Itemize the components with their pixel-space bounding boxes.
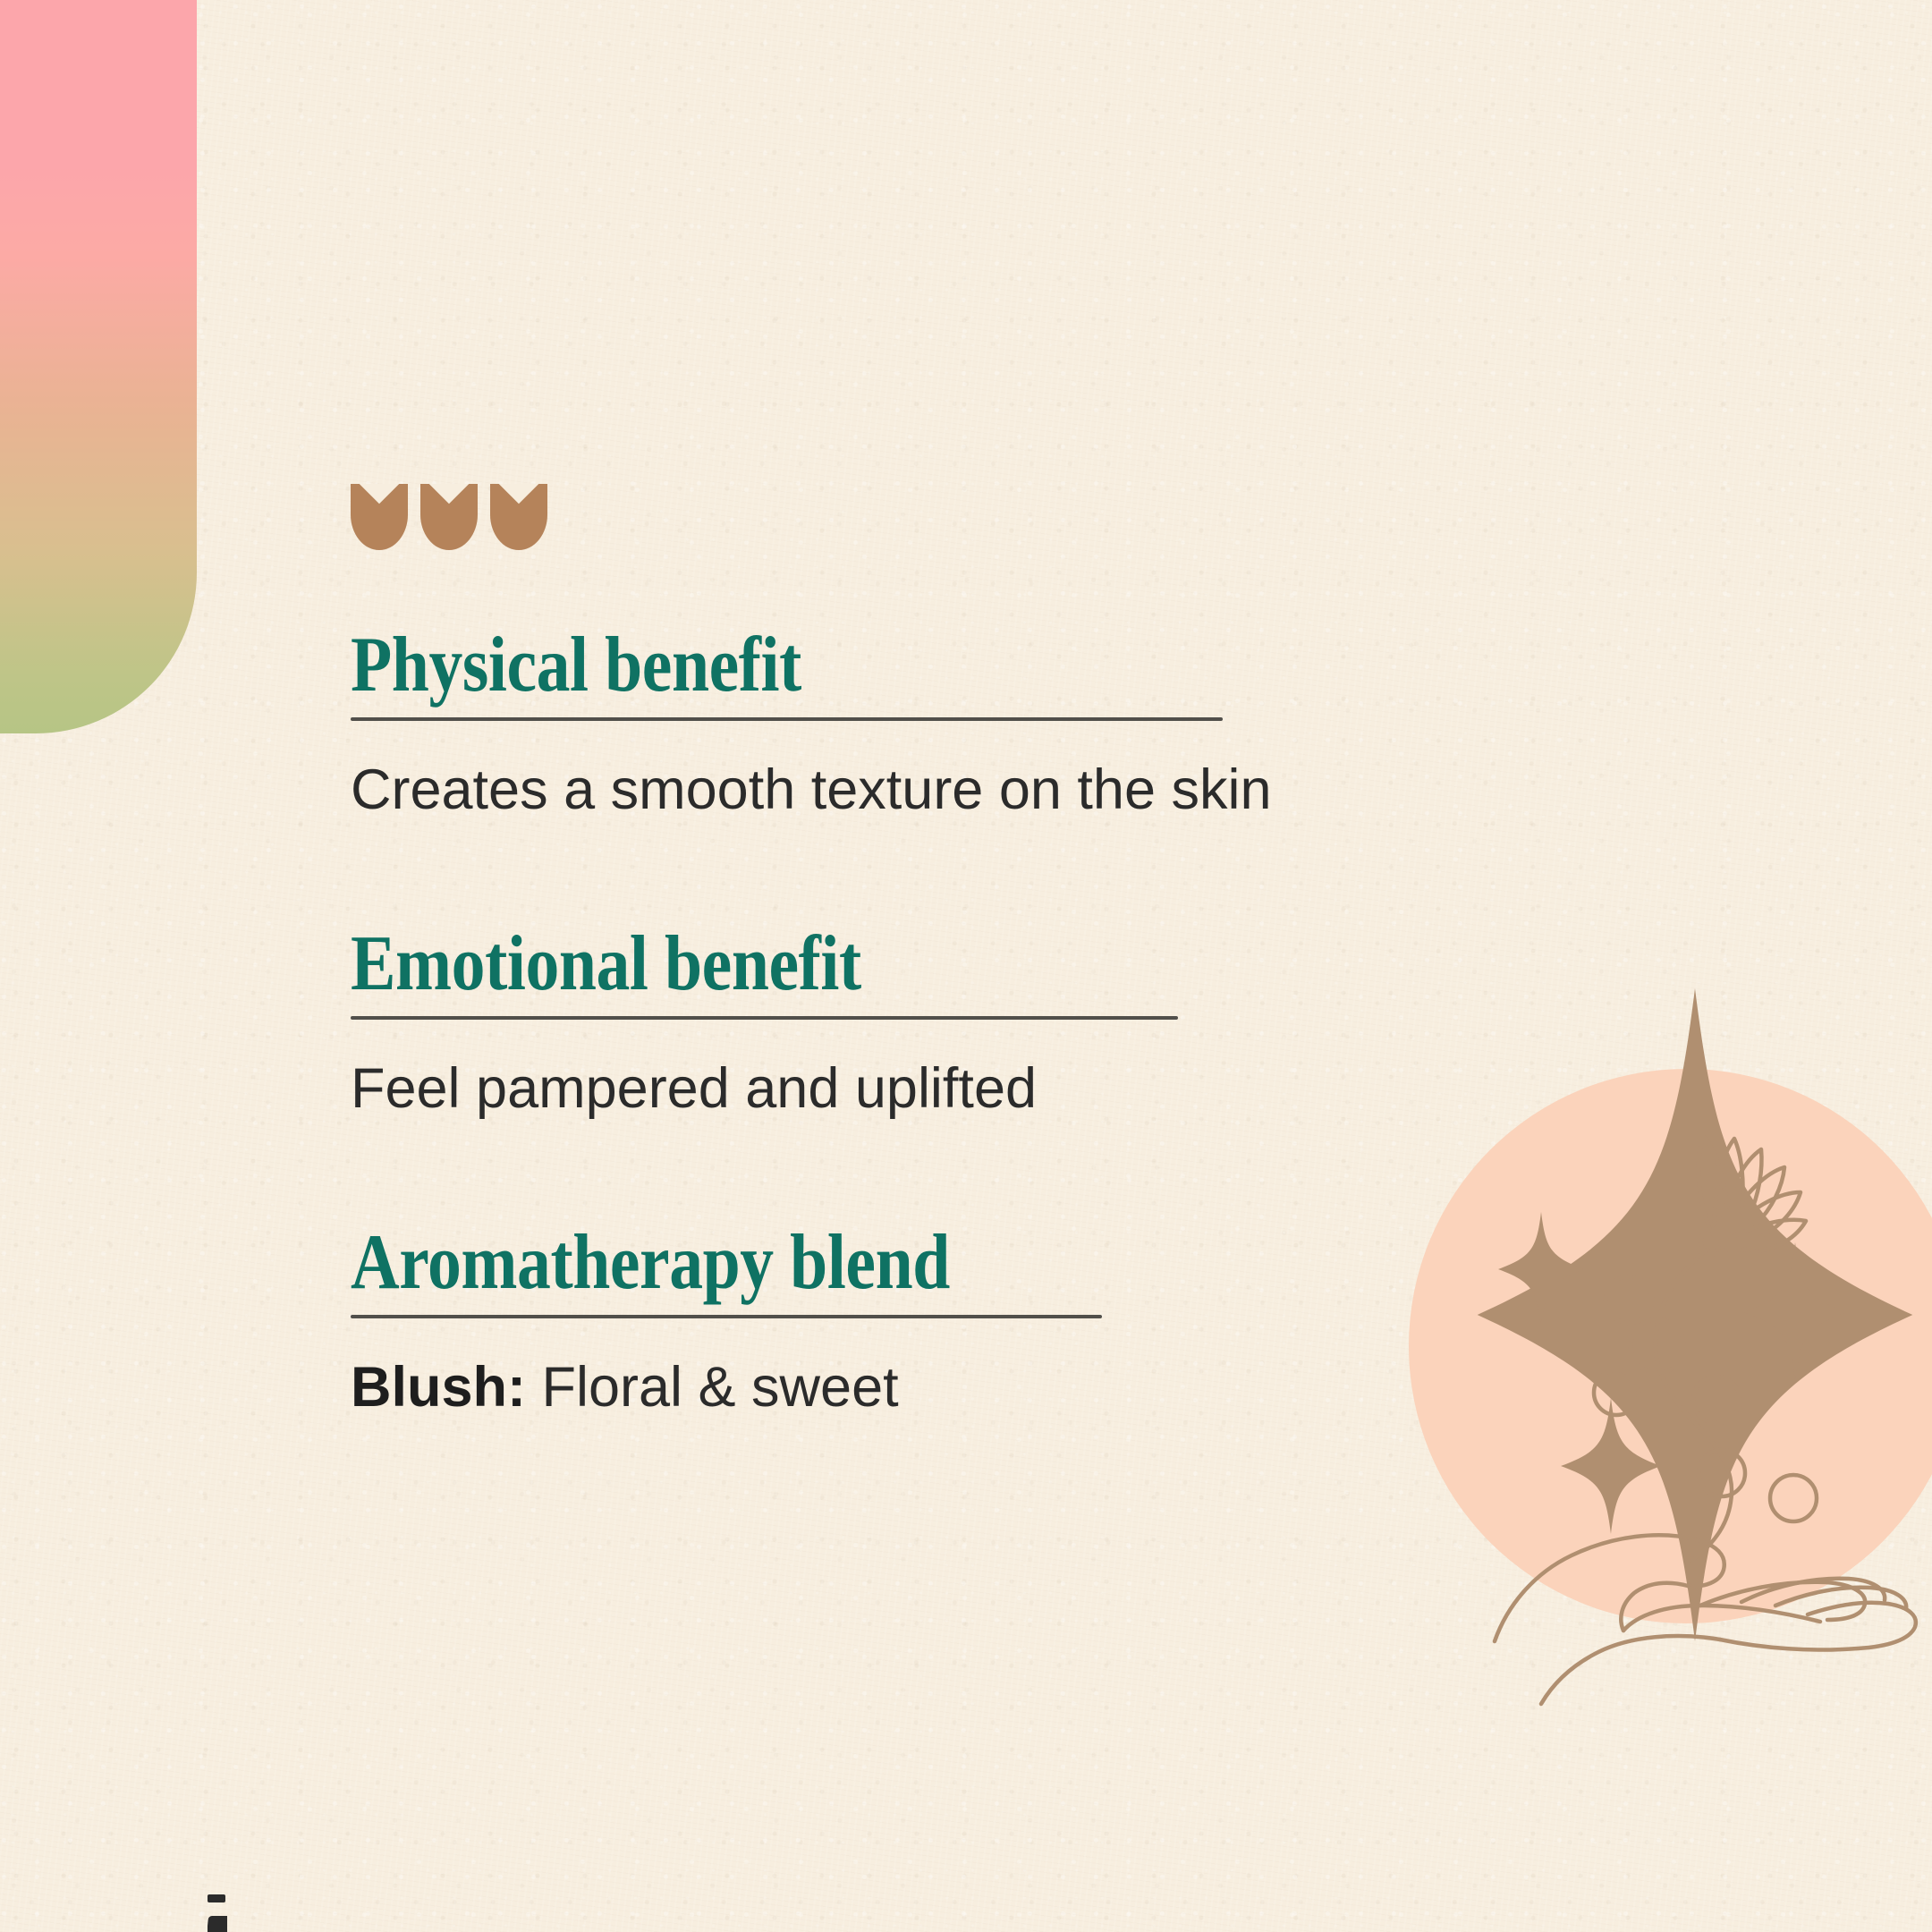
petal-icon-1 (351, 484, 408, 550)
bubble-1 (1606, 1276, 1652, 1323)
scent-name-label: Blush: (351, 1356, 526, 1419)
petal-icon-2 (420, 484, 478, 550)
hand-wrist (1541, 1636, 1720, 1704)
cropped-text-fragment (208, 1894, 227, 1932)
sparkle-star-icon-1 (1498, 1212, 1584, 1326)
bubble-6 (1770, 1475, 1817, 1521)
section-body-physical: Creates a smooth texture on the skin (351, 721, 1567, 819)
scent-description (526, 1356, 542, 1419)
sparkle-star-icon-2 (1743, 1242, 1847, 1382)
hand-flower-line-art (1409, 988, 1932, 1641)
sparkle-group (1498, 1212, 1847, 1534)
bubble-4 (1693, 1377, 1740, 1423)
glyph-dot (208, 1894, 225, 1902)
poster-canvas: Physical benefit Creates a smooth textur… (0, 0, 1932, 1932)
scent-description-text: Floral & sweet (542, 1356, 899, 1419)
section-heading-physical: Physical benefit (351, 626, 1397, 705)
benefit-section-physical: Physical benefit Creates a smooth textur… (351, 626, 1567, 819)
bubble-3 (1594, 1370, 1639, 1415)
section-body-emotional: Feel pampered and uplifted (351, 1020, 1567, 1118)
flower-petal-2 (1715, 1139, 1743, 1224)
hand-thumb-outer (1495, 1535, 1724, 1641)
glyph-stem (208, 1916, 227, 1932)
sparkle-star-icon-3 (1561, 1398, 1661, 1534)
petal-trio-icon (351, 484, 547, 550)
section-body-aromatherapy: Blush: Floral & sweet (351, 1318, 1567, 1417)
benefit-section-emotional: Emotional benefit Feel pampered and upli… (351, 925, 1567, 1118)
benefits-list: Physical benefit Creates a smooth textur… (351, 626, 1567, 1417)
left-gradient-accent-bar (0, 0, 197, 733)
section-heading-aromatherapy: Aromatherapy blend (351, 1224, 1397, 1302)
hand-palm (1623, 1606, 1820, 1631)
petal-icon-3 (490, 484, 547, 550)
decorative-illustration (1409, 1069, 1932, 1641)
benefit-section-aromatherapy: Aromatherapy blend Blush: Floral & sweet (351, 1224, 1567, 1417)
section-heading-emotional: Emotional benefit (351, 925, 1397, 1004)
